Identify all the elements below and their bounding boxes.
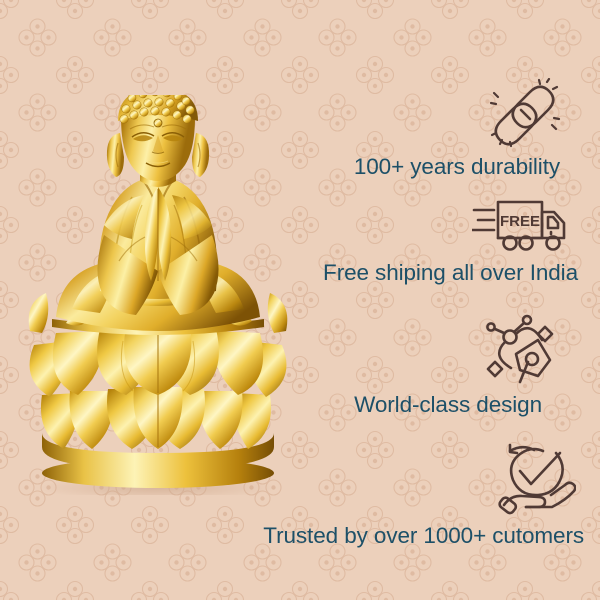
feature-label-durability: 100+ years durability	[354, 154, 560, 180]
feature-item-design: World-class design	[354, 312, 562, 418]
buddha-statue-image	[8, 95, 308, 495]
pen-tool-icon	[476, 312, 554, 386]
feature-label-free-shipping: Free shiping all over India	[323, 260, 578, 286]
feature-item-trust: Trusted by over 1000+ cutomers	[263, 443, 584, 549]
chain-link-icon	[486, 78, 562, 148]
delivery-truck-icon: FREE	[472, 196, 572, 254]
truck-free-label: FREE	[500, 213, 540, 230]
feature-label-design: World-class design	[354, 392, 542, 418]
feature-label-trust: Trusted by over 1000+ cutomers	[263, 523, 584, 549]
hand-checkmark-icon	[496, 443, 576, 517]
feature-item-free-shipping: FREE Free shiping all over India	[323, 196, 580, 286]
feature-item-durability: 100+ years durability	[354, 78, 570, 180]
promo-banner: 100+ years durability FREE Free shipi	[0, 0, 600, 600]
